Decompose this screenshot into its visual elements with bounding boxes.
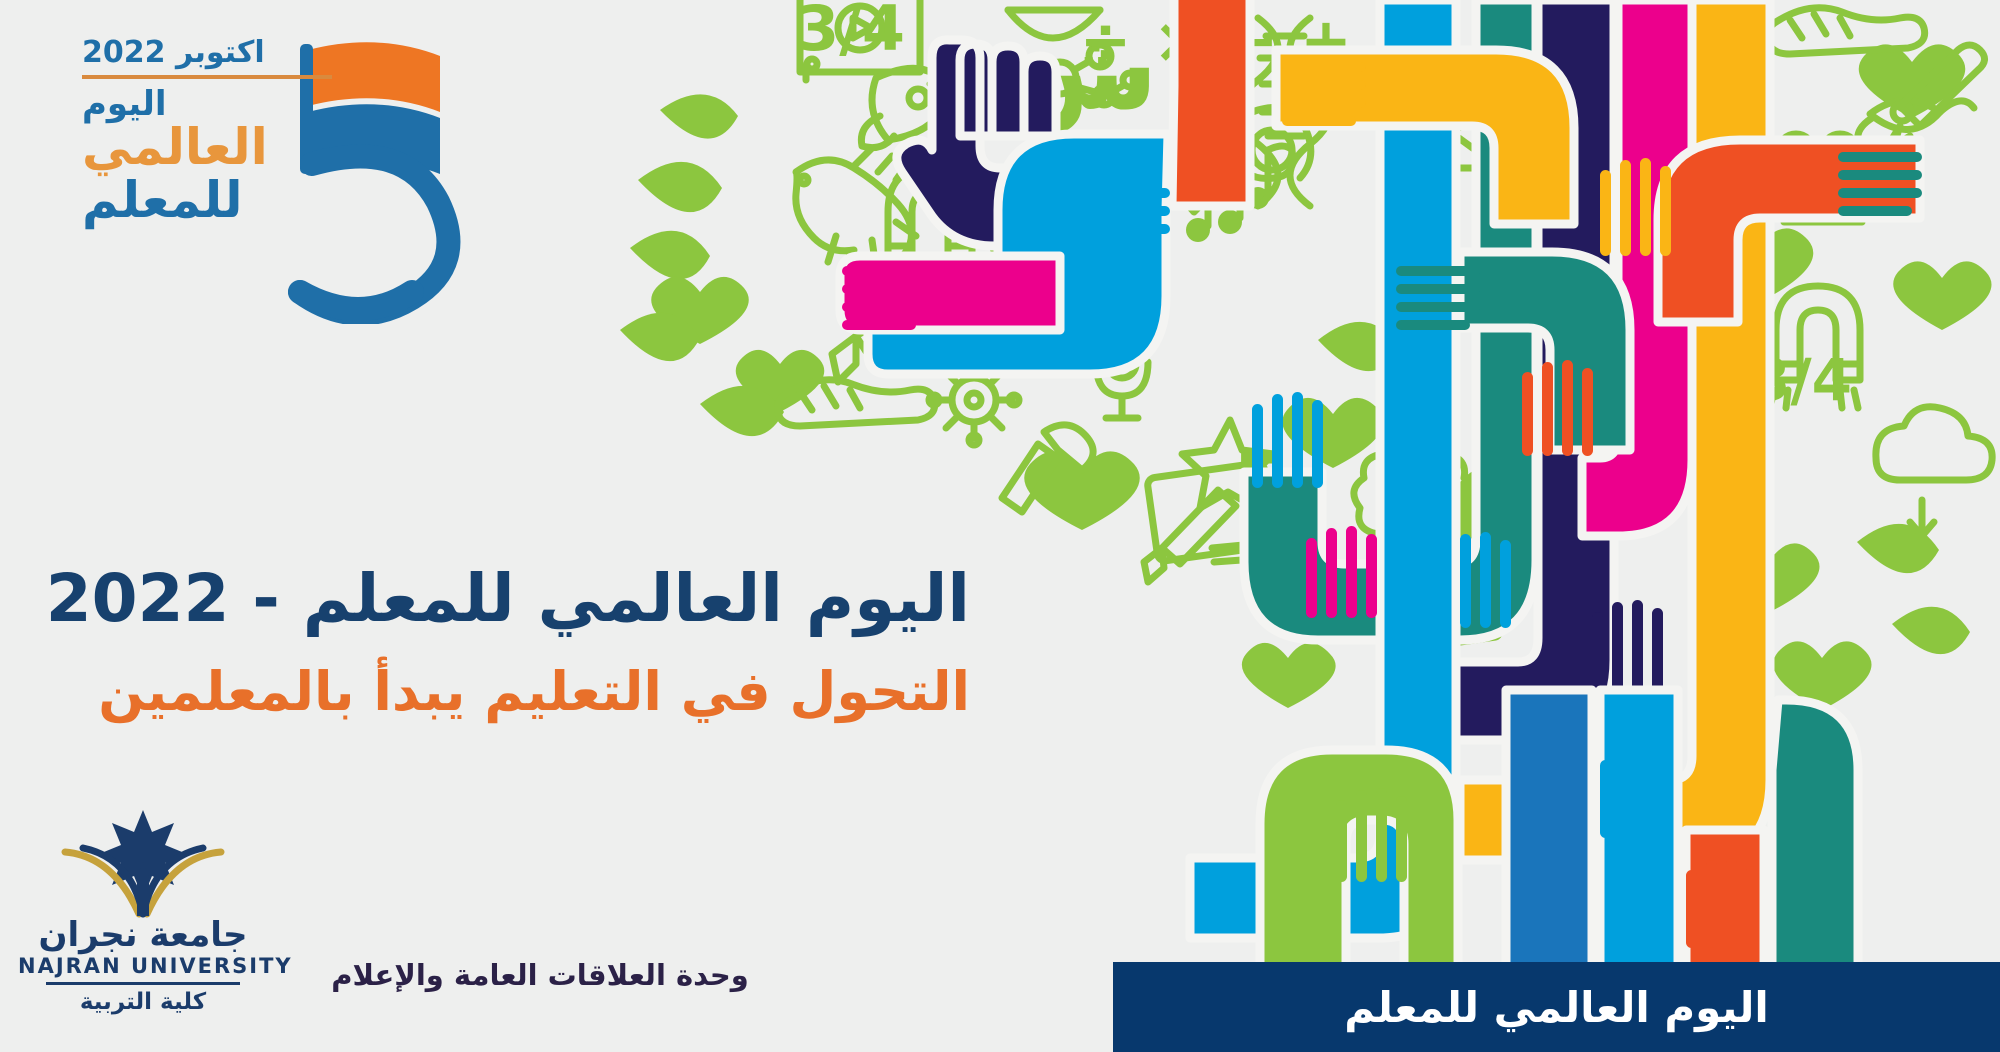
plus-minus-times-divide-icon: + − × ÷	[1079, 4, 1352, 77]
dna-icon	[1238, 18, 1330, 206]
recycle-icon	[972, 272, 1068, 362]
svg-text:ر: ر	[1024, 107, 1080, 212]
microphone-icon	[1096, 322, 1148, 418]
page-subtitle: التحول في التعليم يبدأ بالمعلمين	[150, 660, 970, 724]
flask-icon	[1486, 420, 1545, 506]
virus-icon	[929, 355, 1019, 445]
hand-fingers	[842, 62, 1922, 696]
arabic-letter-ra-icon: ر	[1024, 107, 1080, 212]
poster-canvas: .hand{stroke:#f4f4f2;stroke-width:9;stro…	[0, 0, 2000, 1052]
treble-clef-icon	[1180, 122, 1226, 212]
music-note-icon	[1186, 163, 1242, 242]
root-hand-fingers	[1336, 748, 1757, 948]
wtd-date-line: اكتوبر 2022	[82, 38, 332, 69]
najran-university-name-en: NAJRAN UNIVERSITY	[18, 954, 268, 979]
svg-text:Σ: Σ	[1234, 437, 1286, 526]
dinosaur-icon	[796, 160, 916, 281]
bottom-banner: اليوم العالمي للمعلم	[1113, 962, 2000, 1052]
magnet-icon	[882, 168, 972, 290]
bottom-banner-text: اليوم العالمي للمعلم	[1344, 983, 1769, 1032]
pencil-icon	[832, 286, 960, 382]
numeral-five-flag-icon	[282, 34, 712, 324]
magnet-icon-2	[1770, 286, 1860, 408]
najran-university-name-ar: جامعة نجران	[18, 918, 268, 954]
music-note-icon-2	[1247, 146, 1292, 209]
najran-university-logo: جامعة نجران NAJRAN UNIVERSITY كلية الترب…	[18, 806, 268, 1036]
fraction-three-quarters-icon-2: 3/4	[1750, 346, 1852, 414]
page-title: اليوم العالمي للمعلم - 2022	[150, 560, 970, 638]
cloud-download-icon	[1576, 85, 1692, 214]
letter-n-icon: N	[1715, 213, 1774, 295]
sigma-icon: Σ	[1234, 437, 1286, 526]
wtd-line-day: اليوم	[82, 87, 332, 122]
world-teachers-day-logo: اكتوبر 2022 اليوم العالمي للمعلم	[42, 24, 472, 314]
fraction-three-quarters-icon: 3/4	[796, 0, 905, 65]
rocket-icon	[854, 68, 956, 180]
cloud-download-icon-2	[1876, 407, 1992, 536]
dna-icon-2	[1584, 272, 1676, 460]
sneaker-icon-2	[1768, 8, 1925, 54]
svg-text:ش: ش	[1006, 6, 1158, 135]
public-relations-credit: وحدة العلاقات العامة والإعلام	[300, 958, 780, 992]
fountain-pen-icon	[1884, 45, 1985, 152]
wtd-line-global: العالمي	[82, 121, 332, 174]
brain-icon	[1354, 436, 1474, 548]
arabic-letter-sheen-icon: ش	[1006, 6, 1158, 135]
molecule-icon	[1044, 45, 1137, 105]
college-of-education-label: كلية التربية	[18, 989, 268, 1015]
world-teachers-day-logo-text: اكتوبر 2022 اليوم العالمي للمعلم	[82, 38, 332, 226]
svg-text:N: N	[1715, 213, 1774, 295]
bowl-icon	[1008, 10, 1100, 38]
wtd-line-teacher: للمعلم	[82, 174, 332, 227]
najran-university-divider	[46, 982, 240, 985]
film-camera-icon	[1778, 134, 1862, 222]
briefcase-icon	[1388, 564, 1504, 651]
svg-text:3/4: 3/4	[796, 0, 905, 65]
svg-text:3/4: 3/4	[1750, 346, 1852, 414]
eye-of-horus-icon	[1858, 100, 1974, 176]
sneaker-icon	[778, 380, 935, 426]
gamepad-icon	[1006, 149, 1122, 209]
video-play-icon	[800, 0, 920, 80]
headline-block: اليوم العالمي للمعلم - 2022 التحول في ال…	[150, 560, 970, 724]
hammer-icon	[1002, 425, 1093, 512]
svg-text:+ − × ÷: + − × ÷	[1079, 4, 1352, 77]
tablet-stylus-icon	[1144, 462, 1275, 582]
najran-university-mark	[43, 806, 243, 916]
at-sign-icon	[1232, 108, 1310, 179]
wtd-rule	[82, 75, 332, 79]
star-icon	[1182, 420, 1274, 508]
easel-icon	[1404, 98, 1500, 194]
